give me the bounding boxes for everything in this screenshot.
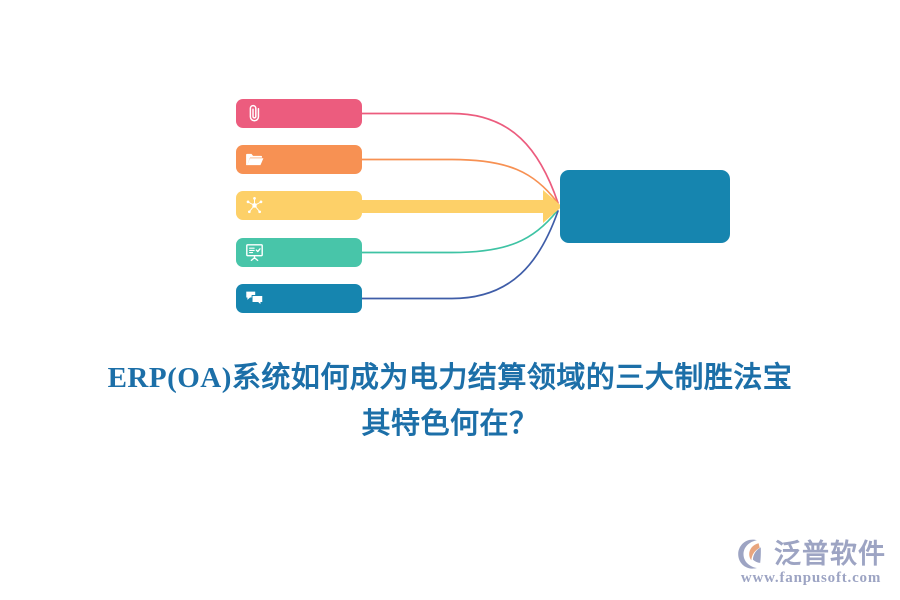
- watermark-brand: 泛普软件: [774, 541, 886, 568]
- watermark-url: www.fanpusoft.com: [741, 571, 881, 586]
- diagram-bar-1[interactable]: [236, 99, 362, 128]
- connector-arrow-3: [362, 190, 562, 223]
- connector-curve-2: [362, 160, 557, 203]
- diagram-bar-4[interactable]: [236, 238, 362, 267]
- page-title: ERP(OA)系统如何成为电力结算领域的三大制胜法宝 其特色何在？: [0, 355, 900, 447]
- diagram-bar-3[interactable]: [236, 191, 362, 220]
- chat-bubbles-icon: [244, 288, 265, 309]
- fanpu-logo-icon: [736, 538, 770, 570]
- watermark-top-row: 泛普软件: [736, 538, 886, 570]
- page-title-line-2: 其特色何在？: [0, 401, 900, 447]
- diagram-bar-5[interactable]: [236, 284, 362, 313]
- paperclip-icon: [244, 103, 265, 124]
- connector-lines: [0, 0, 900, 340]
- diagram-bar-2[interactable]: [236, 145, 362, 174]
- watermark: 泛普软件 www.fanpusoft.com: [736, 538, 886, 586]
- page-title-line-1: ERP(OA)系统如何成为电力结算领域的三大制胜法宝: [0, 355, 900, 401]
- convergence-diagram: [0, 0, 900, 340]
- network-hub-icon: [244, 195, 265, 216]
- presentation-board-icon: [244, 242, 265, 263]
- connector-curve-5: [362, 211, 558, 299]
- connector-curve-1: [362, 114, 558, 204]
- folder-icon: [244, 149, 265, 170]
- target-box[interactable]: [560, 170, 730, 243]
- connector-curve-4: [362, 211, 557, 253]
- slide-canvas: ERP(OA)系统如何成为电力结算领域的三大制胜法宝 其特色何在？ 泛普软件 w…: [0, 0, 900, 600]
